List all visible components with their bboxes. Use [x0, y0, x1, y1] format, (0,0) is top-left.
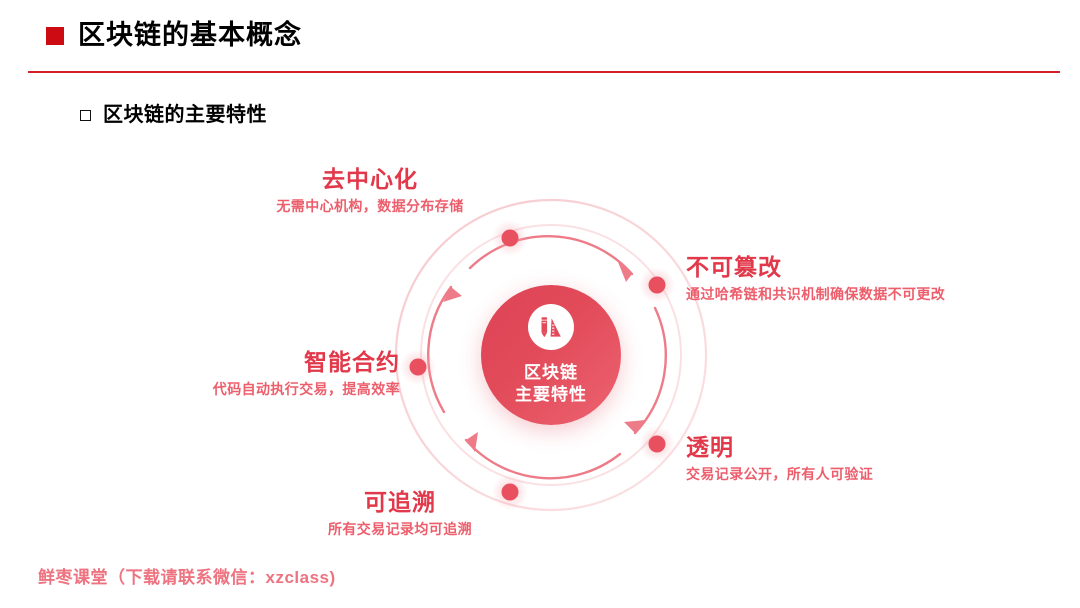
feature-decentralization-title: 去中心化: [220, 167, 520, 191]
dot-decentralization: [502, 230, 519, 247]
slide-header: 区块链的基本概念: [0, 0, 1080, 74]
features-diagram: 区块链 主要特性 去中心化 无需中心机构，数据分布存储 不可篡改 通过哈希链和共…: [0, 150, 1080, 570]
arc-bottom: [466, 440, 620, 478]
feature-decentralization-desc: 无需中心机构，数据分布存储: [220, 198, 520, 215]
page-title: 区块链的基本概念: [78, 22, 302, 49]
title-bullet-square-icon: [46, 27, 64, 45]
center-label: 区块链 主要特性: [515, 362, 587, 406]
feature-transparent-title: 透明: [686, 435, 986, 459]
feature-smart-contract[interactable]: 智能合约 代码自动执行交易，提高效率: [130, 350, 400, 398]
feature-immutable[interactable]: 不可篡改 通过哈希链和共识机制确保数据不可更改: [686, 255, 1026, 303]
dot-smart-contract: [410, 359, 427, 376]
arc-right: [635, 308, 666, 433]
feature-transparent[interactable]: 透明 交易记录公开，所有人可验证: [686, 435, 986, 483]
page-title-row: 区块链的基本概念: [46, 22, 302, 49]
feature-immutable-desc: 通过哈希链和共识机制确保数据不可更改: [686, 286, 1026, 303]
feature-immutable-title: 不可篡改: [686, 255, 1026, 279]
center-node: 区块链 主要特性: [481, 285, 621, 425]
section-subtitle-row: 区块链的主要特性: [80, 105, 267, 125]
feature-smart-contract-title: 智能合约: [130, 350, 400, 374]
subtitle-bullet-outline-square-icon: [80, 110, 91, 121]
dot-transparent: [649, 436, 666, 453]
center-icon-disc: [528, 304, 574, 350]
pencil-ruler-icon: [537, 313, 565, 341]
watermark: 鲜枣课堂（下载请联系微信：xzclass): [38, 563, 336, 588]
title-divider: [28, 71, 1060, 73]
dot-immutable: [649, 277, 666, 294]
feature-traceable-desc: 所有交易记录均可追溯: [250, 521, 550, 538]
feature-traceable-title: 可追溯: [250, 490, 550, 514]
feature-traceable[interactable]: 可追溯 所有交易记录均可追溯: [250, 490, 550, 538]
center-label-line2: 主要特性: [515, 384, 587, 406]
feature-transparent-desc: 交易记录公开，所有人可验证: [686, 466, 986, 483]
feature-smart-contract-desc: 代码自动执行交易，提高效率: [130, 381, 400, 398]
center-label-line1: 区块链: [515, 362, 587, 384]
section-subtitle: 区块链的主要特性: [103, 105, 267, 125]
feature-decentralization[interactable]: 去中心化 无需中心机构，数据分布存储: [220, 167, 520, 215]
